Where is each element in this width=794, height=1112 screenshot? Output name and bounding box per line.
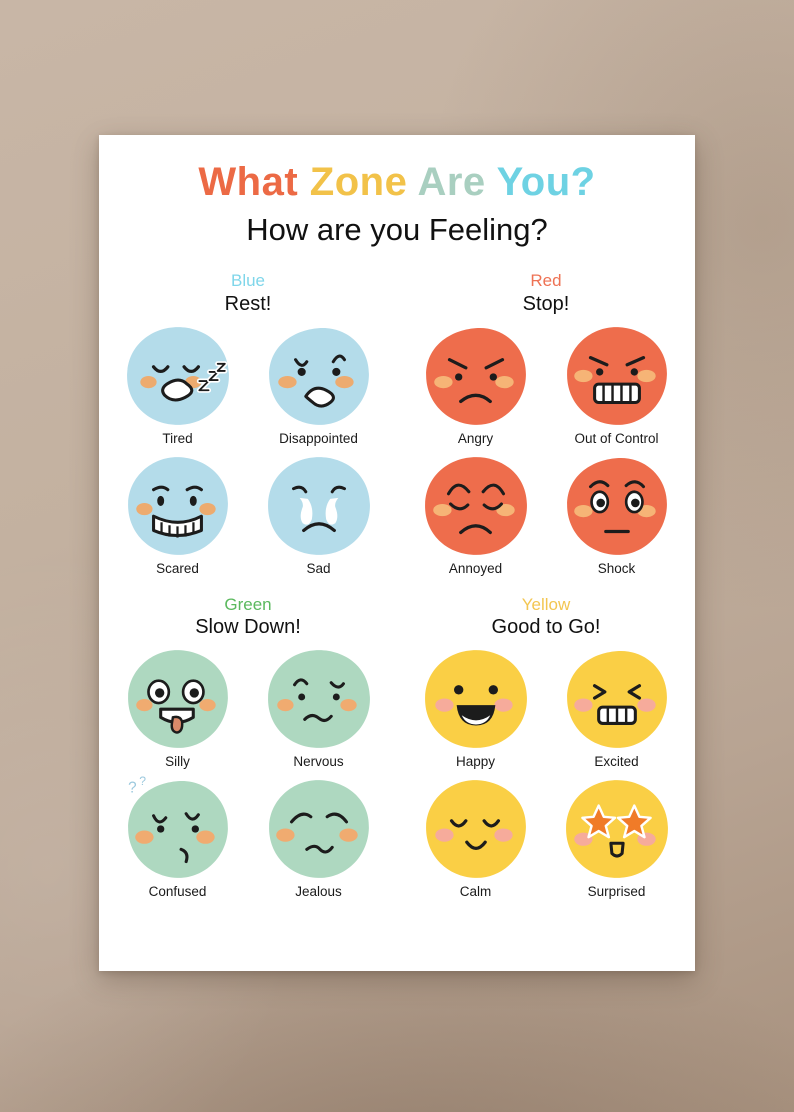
zone-tagline: Good to Go!	[405, 616, 687, 639]
zone-red: RedStop!AngryOut of ControlAnnoyedShock	[397, 272, 695, 576]
face-annoyed-icon	[420, 452, 532, 560]
face-jealous-icon	[263, 775, 375, 883]
emotion-label: Nervous	[293, 754, 343, 769]
emotion-item[interactable]: Silly	[107, 645, 248, 769]
emotion-item[interactable]: ??Confused	[107, 775, 248, 899]
emotion-label: Happy	[456, 754, 495, 769]
title-word-1: What	[198, 160, 309, 204]
emotion-item[interactable]: Shock	[546, 452, 687, 576]
face-silly-icon	[122, 645, 234, 753]
emotion-item[interactable]: Excited	[546, 645, 687, 769]
emotion-item[interactable]: Jealous	[248, 775, 389, 899]
title-word-3: Are	[417, 160, 496, 204]
emotion-label: Shock	[598, 561, 636, 576]
title-word-4: You?	[497, 160, 596, 204]
emotion-label: Sad	[306, 561, 330, 576]
emotion-label: Tired	[162, 431, 192, 446]
emotion-item[interactable]: Nervous	[248, 645, 389, 769]
face-sad-icon	[263, 452, 375, 560]
zone-name-label: Blue	[107, 272, 389, 291]
face-grid: TiredDisappointedScaredSad	[107, 322, 389, 576]
emotion-label: Out of Control	[574, 431, 658, 446]
emotion-label: Disappointed	[279, 431, 358, 446]
emotion-label: Jealous	[295, 884, 342, 899]
face-nervous-icon	[263, 645, 375, 753]
zone-yellow: YellowGood to Go!HappyExcitedCalmSurpris…	[397, 596, 695, 900]
svg-text:?: ?	[139, 775, 146, 788]
zone-tagline: Stop!	[405, 293, 687, 316]
poster-card: What Zone Are You? How are you Feeling? …	[99, 135, 695, 971]
emotion-item[interactable]: Calm	[405, 775, 546, 899]
emotion-label: Excited	[594, 754, 638, 769]
emotion-item[interactable]: Happy	[405, 645, 546, 769]
emotion-label: Surprised	[588, 884, 646, 899]
zone-name-label: Yellow	[405, 596, 687, 615]
face-grid: HappyExcitedCalmSurprised	[405, 645, 687, 899]
zone-blue: BlueRest!TiredDisappointedScaredSad	[99, 272, 397, 576]
zone-name-label: Green	[107, 596, 389, 615]
face-tired-icon	[122, 322, 234, 430]
zone-name-label: Red	[405, 272, 687, 291]
face-scared-icon	[122, 452, 234, 560]
face-shock-icon	[561, 452, 673, 560]
zone-green: GreenSlow Down!SillyNervous??ConfusedJea…	[99, 596, 397, 900]
title-word-2: Zone	[310, 160, 418, 204]
zone-grid: BlueRest!TiredDisappointedScaredSadRedSt…	[99, 272, 695, 899]
zone-tagline: Slow Down!	[107, 616, 389, 639]
face-disappointed-icon	[263, 322, 375, 430]
emotion-item[interactable]: Disappointed	[248, 322, 389, 446]
svg-text:?: ?	[128, 780, 136, 797]
emotion-item[interactable]: Tired	[107, 322, 248, 446]
face-calm-icon	[420, 775, 532, 883]
emotion-item[interactable]: Scared	[107, 452, 248, 576]
emotion-label: Silly	[165, 754, 190, 769]
page-subtitle: How are you Feeling?	[99, 212, 695, 248]
emotion-label: Annoyed	[449, 561, 502, 576]
face-grid: AngryOut of ControlAnnoyedShock	[405, 322, 687, 576]
emotion-item[interactable]: Surprised	[546, 775, 687, 899]
emotion-label: Angry	[458, 431, 493, 446]
page-title: What Zone Are You?	[99, 161, 695, 203]
emotion-item[interactable]: Annoyed	[405, 452, 546, 576]
face-surprised-icon	[561, 775, 673, 883]
emotion-item[interactable]: Sad	[248, 452, 389, 576]
emotion-label: Calm	[460, 884, 492, 899]
face-grid: SillyNervous??ConfusedJealous	[107, 645, 389, 899]
face-confused-icon: ??	[122, 775, 234, 883]
zone-tagline: Rest!	[107, 293, 389, 316]
emotion-label: Scared	[156, 561, 199, 576]
face-happy-icon	[420, 645, 532, 753]
emotion-label: Confused	[149, 884, 207, 899]
face-out-of-control-icon	[561, 322, 673, 430]
face-angry-icon	[420, 322, 532, 430]
emotion-item[interactable]: Angry	[405, 322, 546, 446]
emotion-item[interactable]: Out of Control	[546, 322, 687, 446]
face-excited-icon	[561, 645, 673, 753]
